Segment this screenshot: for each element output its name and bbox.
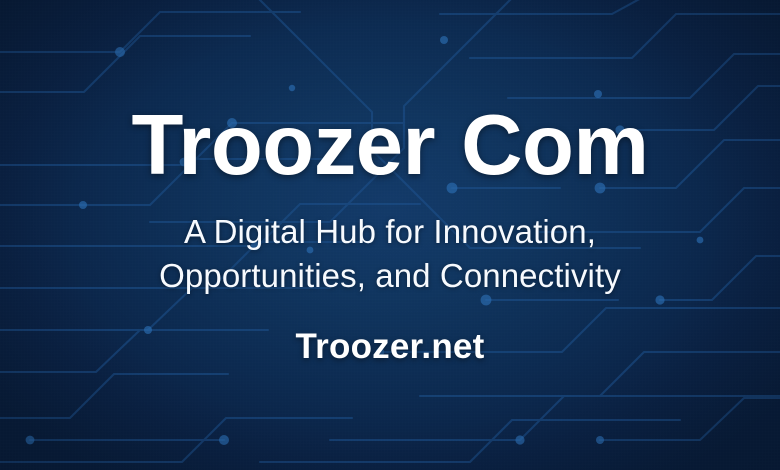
tagline-line-1: A Digital Hub for Innovation,	[159, 210, 621, 254]
brand-title-word-2: Com	[461, 98, 648, 193]
domain-name: Troozer.net	[296, 327, 485, 367]
brand-title: TroozerCom	[132, 103, 649, 188]
banner-content: TroozerCom A Digital Hub for Innovation,…	[0, 0, 780, 470]
tagline-line-2: Opportunities, and Connectivity	[159, 254, 621, 298]
promo-banner: TroozerCom A Digital Hub for Innovation,…	[0, 0, 780, 470]
brand-title-word-1: Troozer	[132, 98, 436, 193]
tagline: A Digital Hub for Innovation, Opportunit…	[159, 210, 621, 298]
